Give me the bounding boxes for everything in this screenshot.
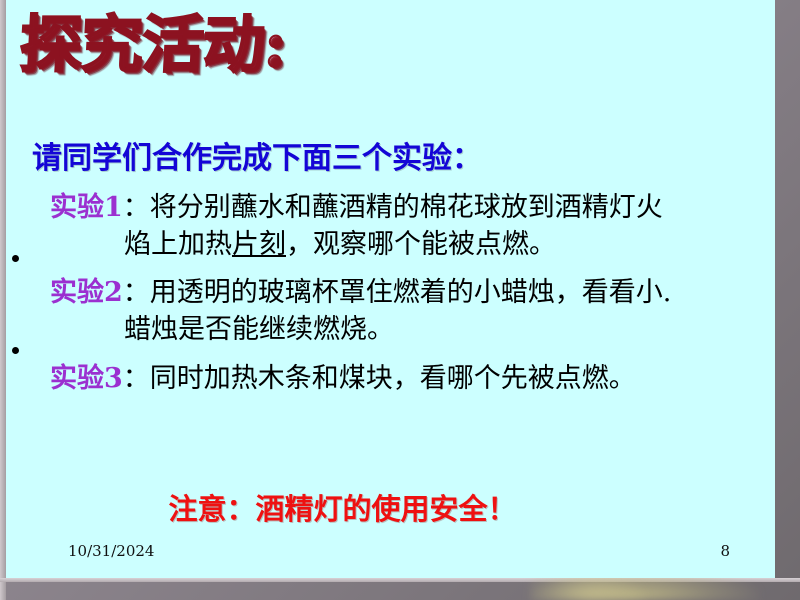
experiment-2-line-1: 实验2：用透明的玻璃杯罩住燃着的小蜡烛，看看小. <box>50 275 762 312</box>
experiment-1-line-1: 实验1：将分别蘸水和蘸酒精的棉花球放到酒精灯火 <box>50 190 762 227</box>
experiment-3-number: 3 <box>104 363 123 394</box>
experiment-2-line-2: 蜡烛是否能继续燃烧。 <box>50 312 762 349</box>
slide-title-block: 探究活动: <box>20 14 320 114</box>
experiment-2-number: 2 <box>104 277 123 308</box>
experiment-item-3: 实验3：同时加热木条和煤块，看哪个先被点燃。 <box>50 361 762 398</box>
caution-note: 注意：酒精灯的使用安全！ <box>6 486 775 528</box>
experiment-3-colon: ： <box>123 363 150 394</box>
experiment-1-label: 实验 <box>50 192 104 223</box>
wordart-title: 探究活动: <box>18 14 321 76</box>
experiment-2-text-part-2: 蜡烛是否能继续燃烧。 <box>124 314 394 345</box>
experiment-3-line-1: 实验3：同时加热木条和煤块，看哪个先被点燃。 <box>50 361 762 398</box>
margin-bullet-dot <box>12 255 19 262</box>
footer-date: 10/31/2024 <box>68 542 154 560</box>
slide-footer: 10/31/2024 8 <box>6 542 775 564</box>
frame-bevel-bottom <box>0 578 800 582</box>
margin-bullet-dot <box>12 347 19 354</box>
experiment-item-1: 实验1：将分别蘸水和蘸酒精的棉花球放到酒精灯火 焰上加热片刻，观察哪个能被点燃。 <box>50 190 762 263</box>
slide-canvas: 探究活动: 请同学们合作完成下面三个实验： 实验1：将分别蘸水和蘸酒精的棉花球放… <box>6 0 775 578</box>
caution-note-text: 注意：酒精灯的使用安全！ <box>168 486 516 528</box>
experiment-1-colon: ： <box>123 192 150 223</box>
experiment-3-label: 实验 <box>50 363 104 394</box>
experiment-2-text-part-1: 用透明的玻璃杯罩住燃着的小蜡烛，看看小. <box>150 277 672 308</box>
presentation-frame: 探究活动: 请同学们合作完成下面三个实验： 实验1：将分别蘸水和蘸酒精的棉花球放… <box>0 0 800 600</box>
experiment-1-text-part-2: 焰上加热 <box>124 229 232 260</box>
footer-page-number: 8 <box>720 542 730 560</box>
experiment-1-underlined-text: 片刻 <box>232 229 286 260</box>
experiment-list: 实验1：将分别蘸水和蘸酒精的棉花球放到酒精灯火 焰上加热片刻，观察哪个能被点燃。… <box>50 190 762 410</box>
experiment-2-label: 实验 <box>50 277 104 308</box>
slide-subtitle: 请同学们合作完成下面三个实验： <box>32 133 482 177</box>
experiment-2-colon: ： <box>123 277 150 308</box>
experiment-1-line-2: 焰上加热片刻，观察哪个能被点燃。 <box>50 227 762 264</box>
experiment-1-text-part-1: 将分别蘸水和蘸酒精的棉花球放到酒精灯火 <box>150 192 663 223</box>
experiment-item-2: 实验2：用透明的玻璃杯罩住燃着的小蜡烛，看看小. 蜡烛是否能继续燃烧。 <box>50 275 762 348</box>
experiment-1-text-part-3: ，观察哪个能被点燃。 <box>286 229 556 260</box>
experiment-3-text-part-1: 同时加热木条和煤块，看哪个先被点燃。 <box>150 363 636 394</box>
experiment-1-number: 1 <box>104 192 123 223</box>
